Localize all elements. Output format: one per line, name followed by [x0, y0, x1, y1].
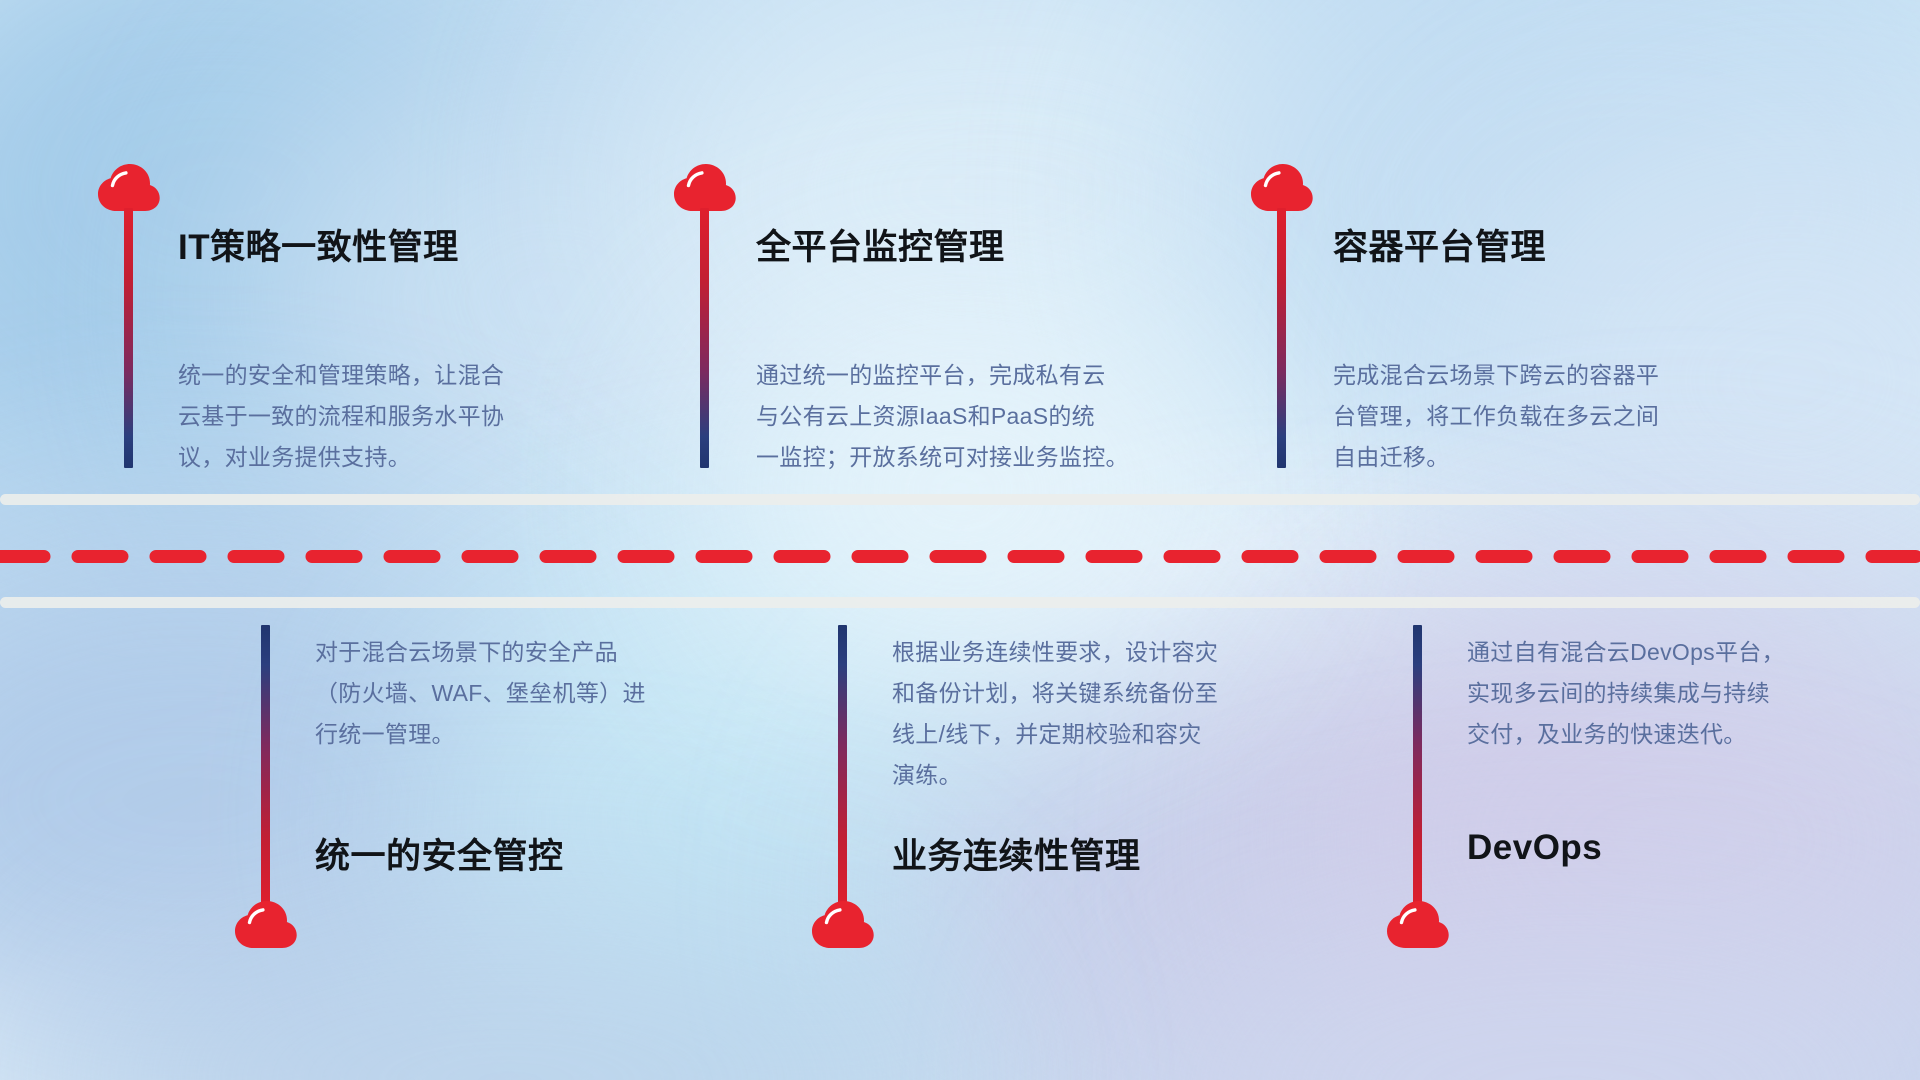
- cloud-icon: [1249, 160, 1315, 212]
- cloud-icon: [1385, 897, 1451, 949]
- infographic-canvas: IT策略一致性管理 统一的安全和管理策略，让混合 云基于一致的流程和服务水平协 …: [0, 0, 1920, 1080]
- top-body-1: 统一的安全和管理策略，让混合 云基于一致的流程和服务水平协 议，对业务提供支持。: [178, 355, 648, 478]
- timeline-stem: [1413, 625, 1422, 910]
- solid-rule-top: [0, 494, 1920, 505]
- cloud-icon: [96, 160, 162, 212]
- top-body-3: 完成混合云场景下跨云的容器平 台管理，将工作负载在多云之间 自由迁移。: [1333, 355, 1803, 478]
- bottom-heading-1: 统一的安全管控: [315, 828, 564, 879]
- bottom-body-2: 根据业务连续性要求，设计容灾 和备份计划，将关键系统备份至 线上/线下，并定期校…: [892, 632, 1362, 796]
- cloud-icon: [233, 897, 299, 949]
- timeline-stem: [261, 625, 270, 910]
- timeline-stem: [1277, 208, 1286, 468]
- cloud-icon: [810, 897, 876, 949]
- bottom-heading-3: DevOps: [1467, 828, 1602, 868]
- bottom-body-3: 通过自有混合云DevOps平台， 实现多云间的持续集成与持续 交付，及业务的快速…: [1467, 632, 1920, 755]
- solid-rule-bottom: [0, 597, 1920, 608]
- cloud-icon: [672, 160, 738, 212]
- bottom-heading-2: 业务连续性管理: [892, 828, 1141, 879]
- timeline-stem: [124, 208, 133, 468]
- timeline-stem: [700, 208, 709, 468]
- dashed-separator: [0, 550, 1920, 563]
- bottom-body-1: 对于混合云场景下的安全产品 （防火墙、WAF、堡垒机等）进 行统一管理。: [315, 632, 785, 755]
- timeline-stem: [838, 625, 847, 910]
- top-heading-3: 容器平台管理: [1333, 219, 1546, 270]
- top-body-2: 通过统一的监控平台，完成私有云 与公有云上资源IaaS和PaaS的统 一监控；开…: [756, 355, 1246, 478]
- top-heading-1: IT策略一致性管理: [178, 219, 459, 270]
- top-heading-2: 全平台监控管理: [756, 219, 1005, 270]
